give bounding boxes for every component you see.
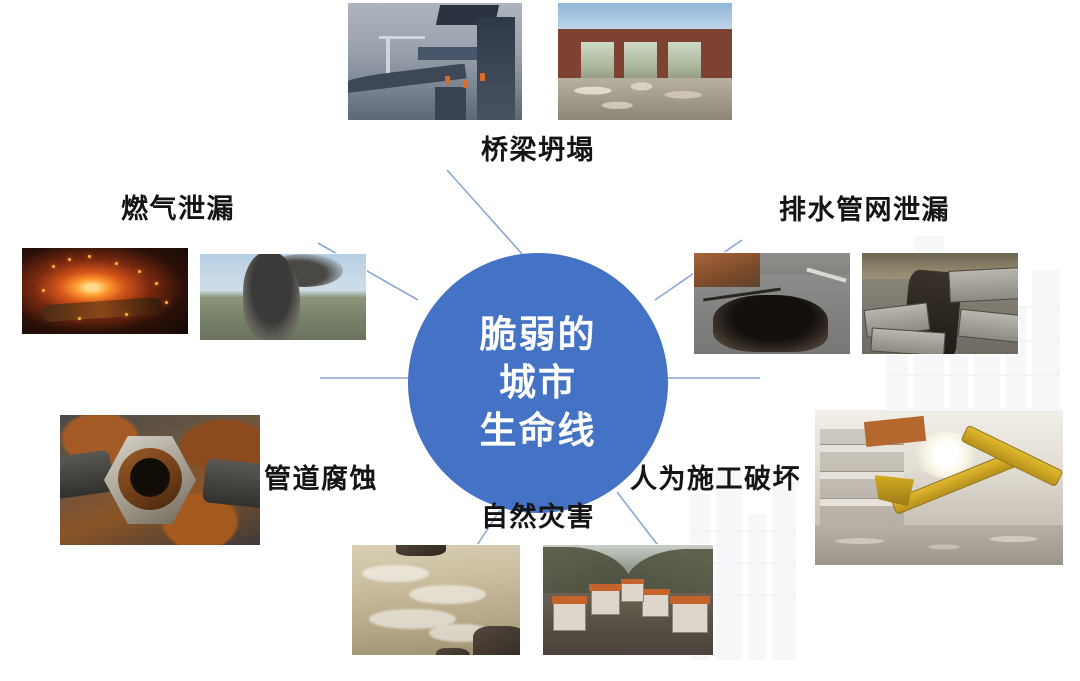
photo-road-subsidence	[862, 253, 1018, 354]
photo-mudslide-village	[543, 545, 713, 655]
label-gas-leak: 燃气泄漏	[121, 196, 235, 223]
label-pipe-corrosion: 管道腐蚀	[264, 466, 378, 493]
label-construction-damage: 人为施工破坏	[630, 466, 801, 493]
label-natural-disaster: 自然灾害	[481, 504, 595, 531]
center-circle-line-2: 城市	[499, 359, 577, 407]
photo-excavator-demolition	[815, 410, 1063, 565]
infographic-canvas: 脆弱的 城市 生命线 桥梁坍塌 燃气泄漏 排水管网泄漏 管道腐蚀 自然灾害 人为…	[0, 0, 1080, 681]
photo-collapsed-building	[558, 3, 732, 120]
center-circle-line-3: 生命线	[480, 407, 597, 455]
photo-rusted-pipe	[60, 415, 260, 545]
photo-smoke-plume	[200, 254, 366, 340]
connector-construction-damage	[617, 492, 660, 548]
center-circle-line-1: 脆弱的	[480, 311, 597, 359]
label-bridge-collapse: 桥梁坍塌	[481, 137, 595, 164]
photo-bridge-construction	[348, 3, 522, 120]
center-circle: 脆弱的 城市 生命线	[408, 253, 668, 513]
photo-road-sinkhole	[694, 253, 850, 354]
photo-fire-explosion	[22, 248, 188, 334]
photo-flood-rapids	[352, 545, 520, 655]
connector-bridge-collapse	[447, 170, 523, 255]
label-drainage-leak: 排水管网泄漏	[779, 197, 950, 224]
